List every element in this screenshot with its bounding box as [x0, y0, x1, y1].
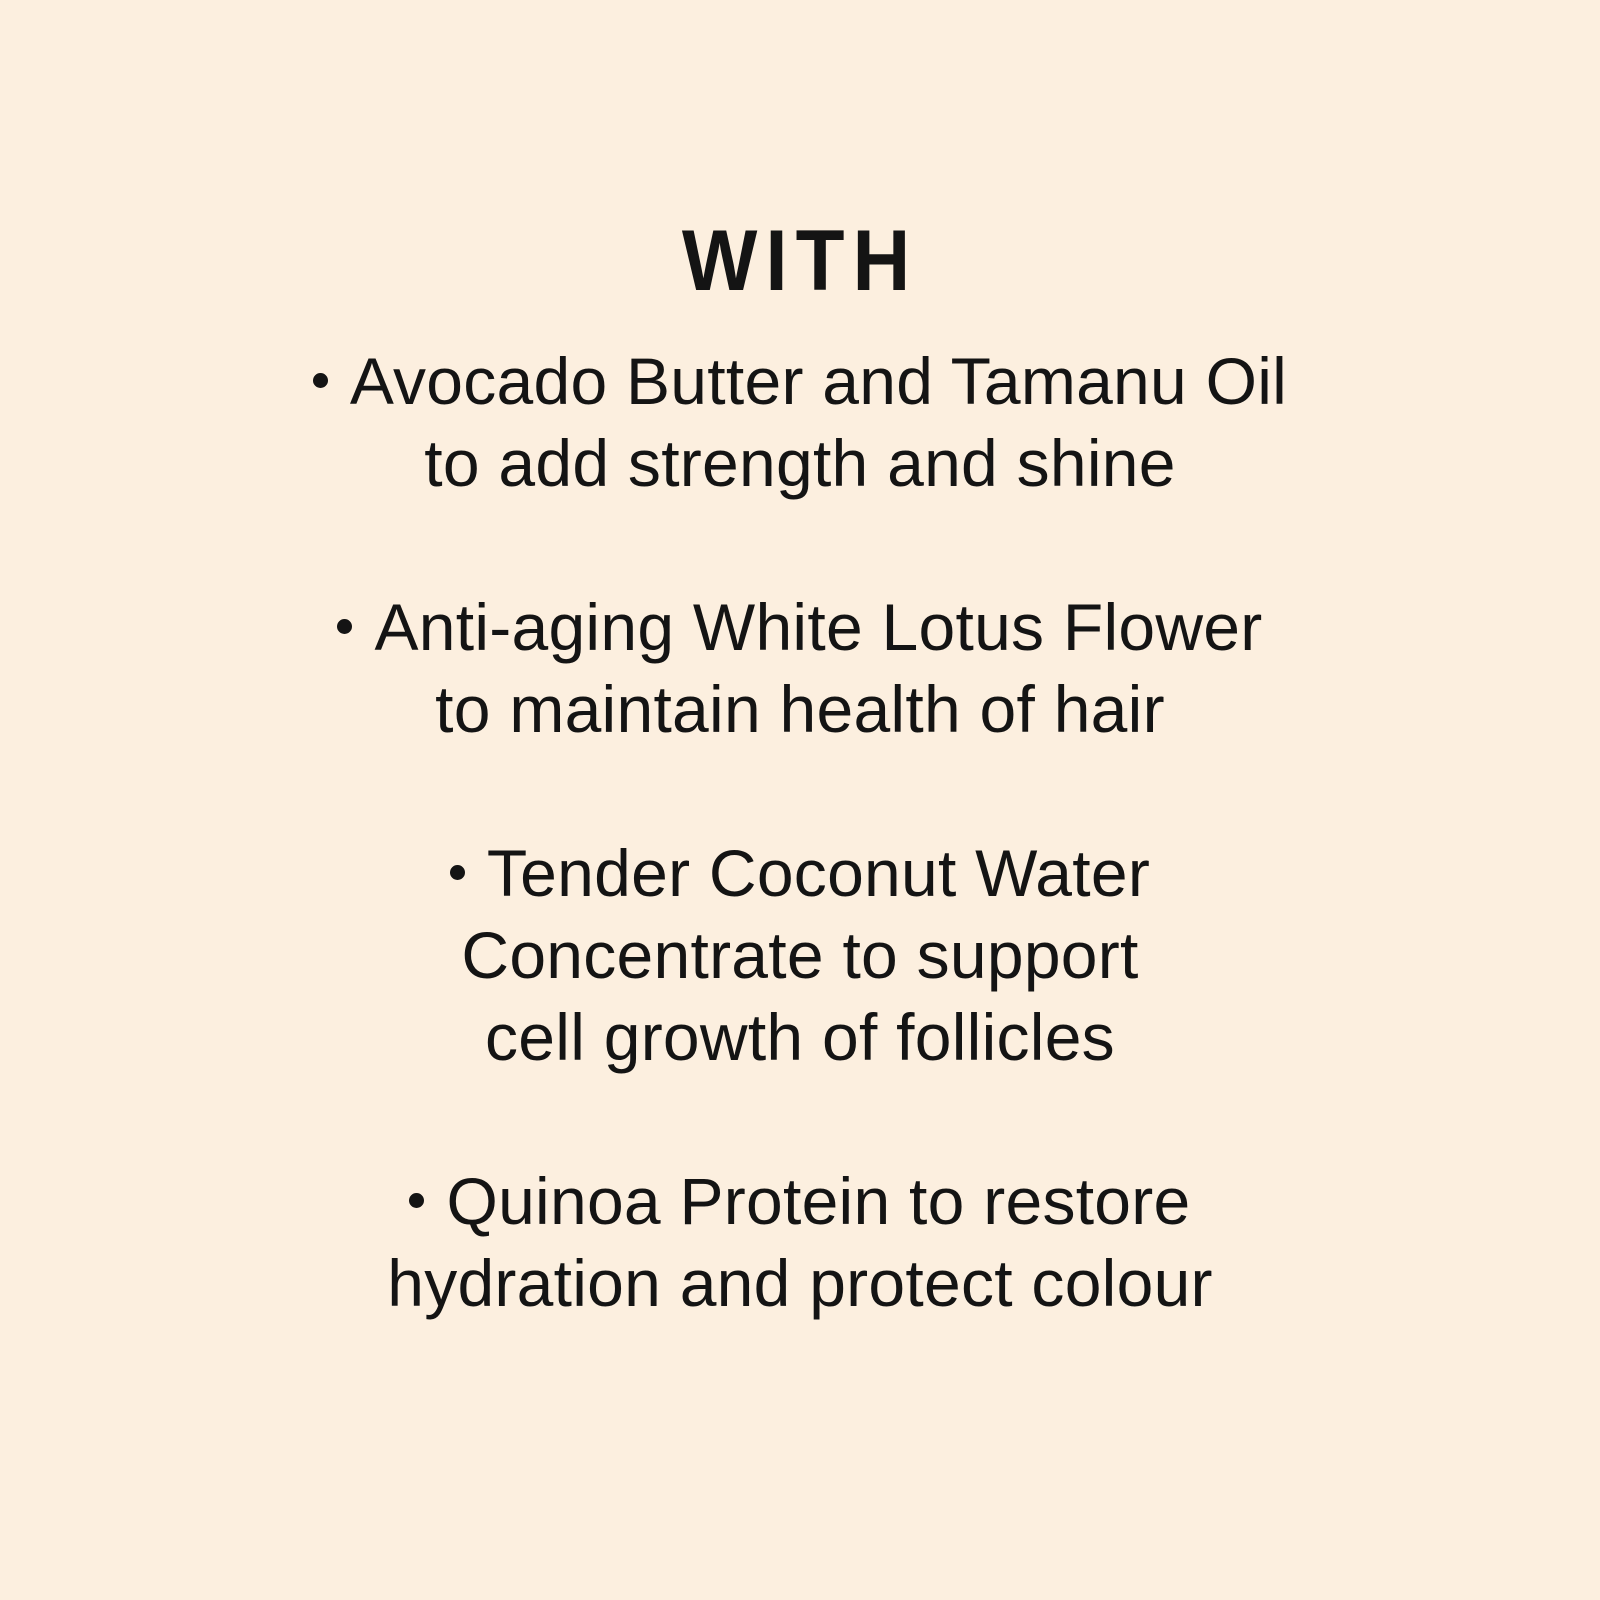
benefit-line-text: cell growth of follicles: [0, 996, 1600, 1078]
benefit-line-text: hydration and protect colour: [0, 1242, 1600, 1324]
benefit-item-tender-coconut-water-concentrate: Tender Coconut Water Concentrate to supp…: [0, 832, 1600, 1078]
benefit-line: Quinoa Protein to restore: [0, 1160, 1600, 1242]
bullet-dot-icon: [450, 865, 465, 880]
benefit-line: Tender Coconut Water: [0, 832, 1600, 914]
benefits-list: Avocado Butter and Tamanu Oil to add str…: [0, 340, 1600, 1324]
benefit-line-text: Anti-aging White Lotus Flower: [374, 590, 1262, 664]
benefit-line-text: to maintain health of hair: [0, 668, 1600, 750]
page-title: WITH: [682, 218, 918, 304]
benefit-item-avocado-butter-tamanu-oil: Avocado Butter and Tamanu Oil to add str…: [0, 340, 1600, 504]
benefit-item-quinoa-protein: Quinoa Protein to restore hydration and …: [0, 1160, 1600, 1324]
benefit-line: Avocado Butter and Tamanu Oil: [0, 340, 1600, 422]
benefit-item-anti-aging-white-lotus-flower: Anti-aging White Lotus Flower to maintai…: [0, 586, 1600, 750]
page-title-container: WITH: [0, 160, 1600, 361]
bullet-dot-icon: [409, 1193, 424, 1208]
benefit-line: Anti-aging White Lotus Flower: [0, 586, 1600, 668]
benefit-line-text: Quinoa Protein to restore: [446, 1164, 1190, 1238]
ingredient-benefits-card: WITH Avocado Butter and Tamanu Oil to ad…: [0, 0, 1600, 1600]
bullet-dot-icon: [337, 619, 352, 634]
bullet-dot-icon: [313, 373, 328, 388]
benefit-line-text: to add strength and shine: [0, 422, 1600, 504]
benefit-line-text: Avocado Butter and Tamanu Oil: [350, 344, 1287, 418]
benefit-line-text: Concentrate to support: [0, 914, 1600, 996]
benefit-line-text: Tender Coconut Water: [487, 836, 1150, 910]
